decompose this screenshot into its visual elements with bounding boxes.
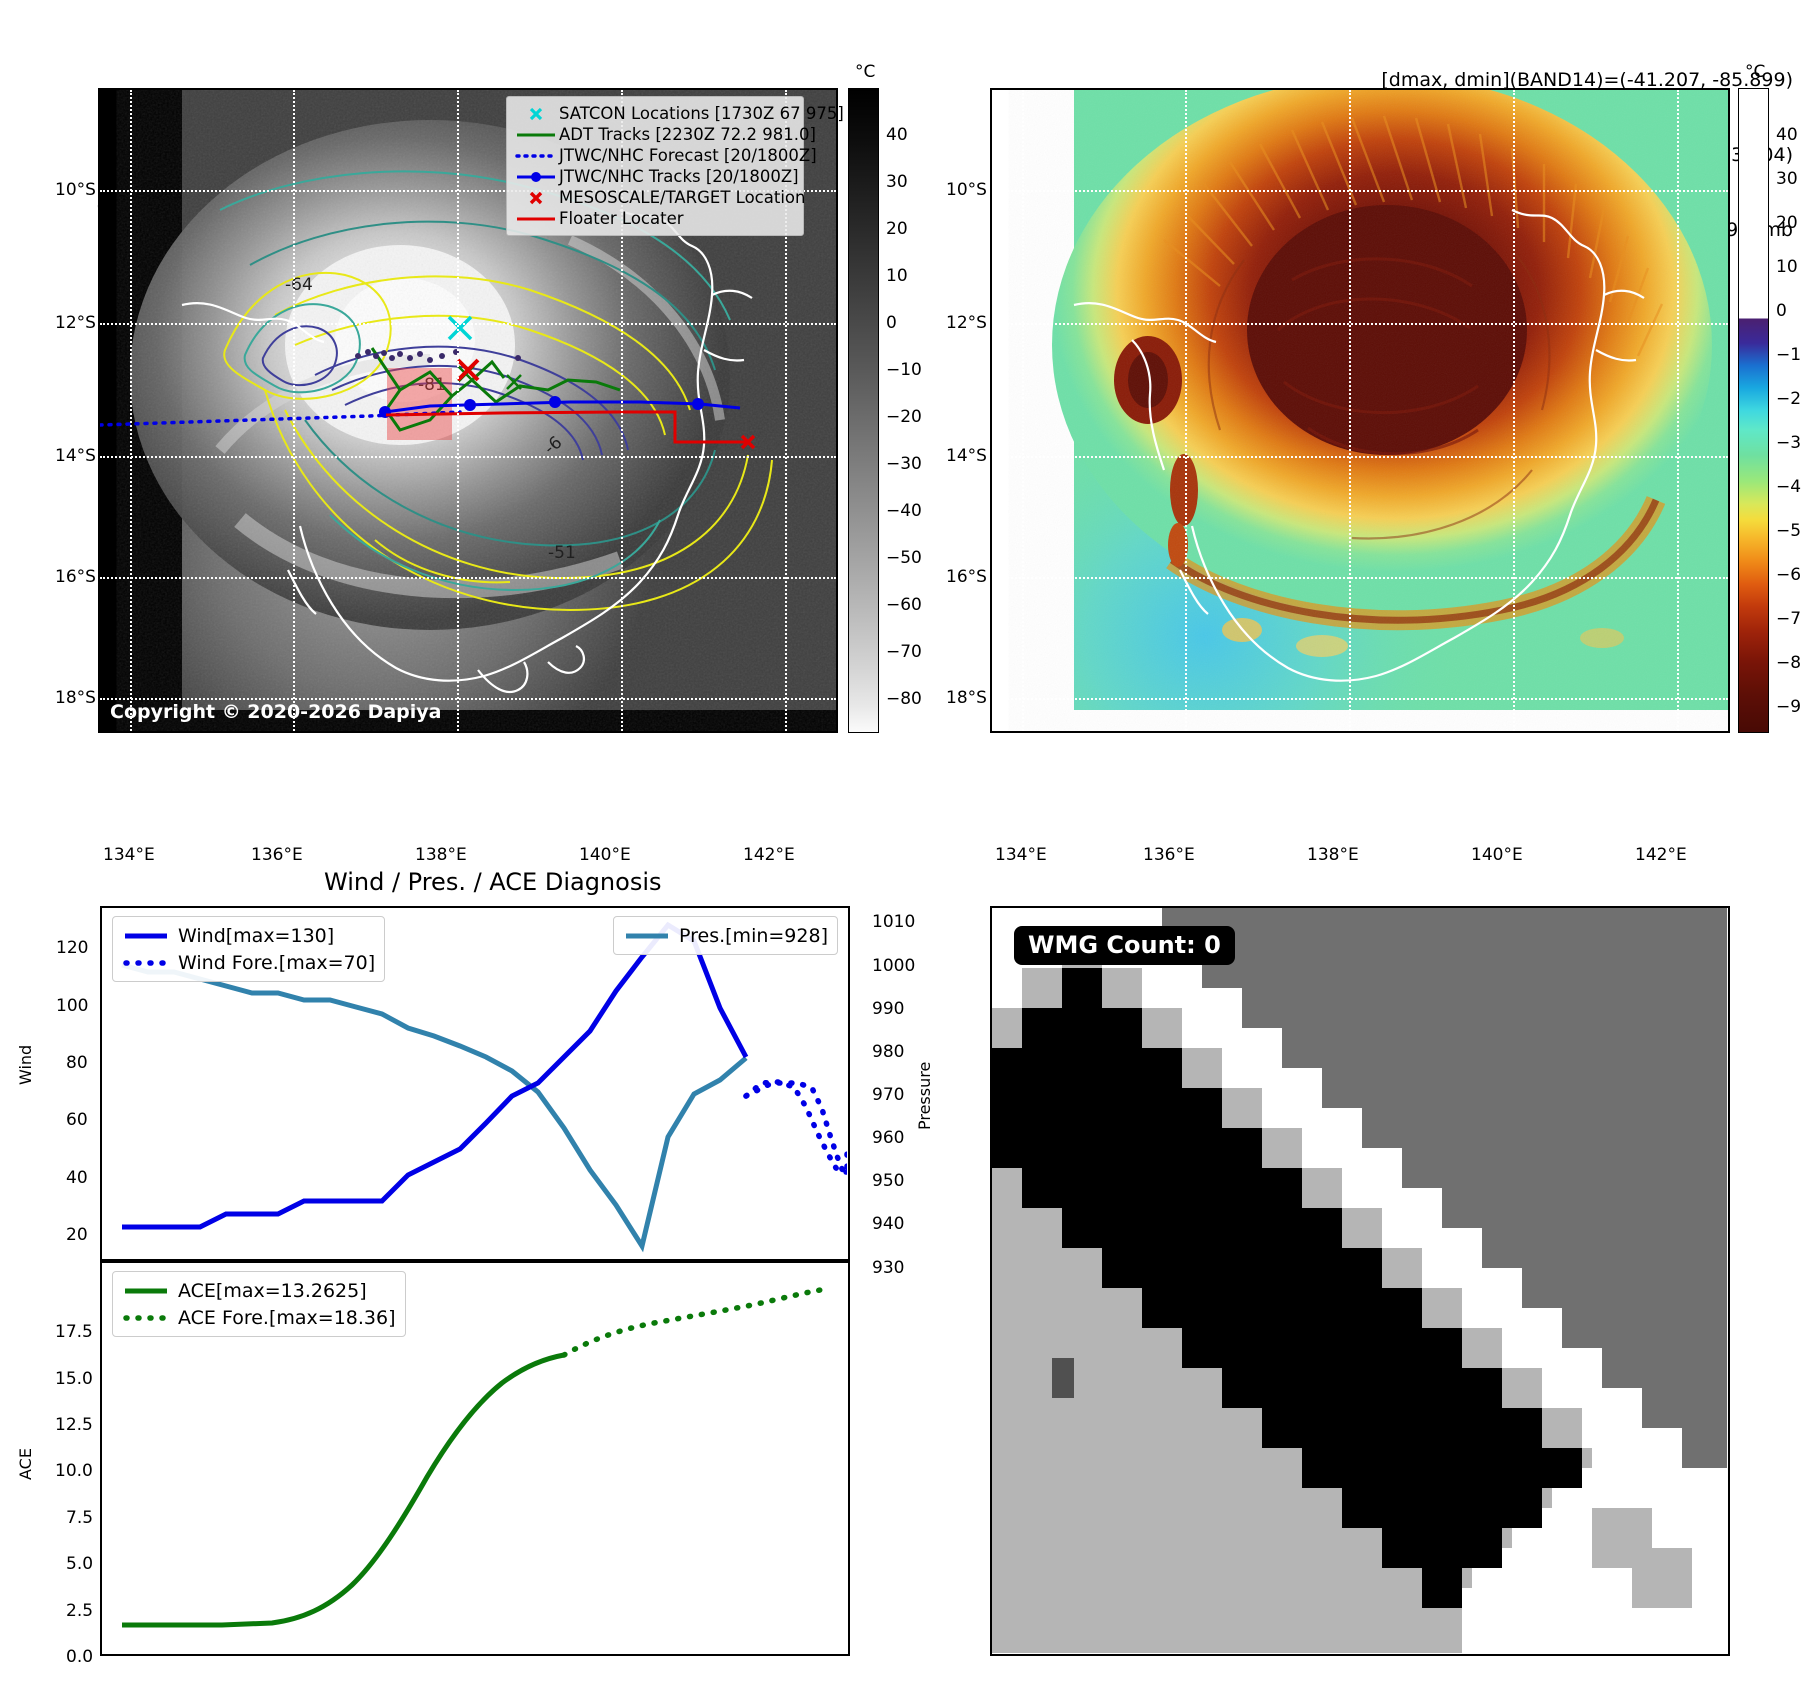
left-cb-tick: 0 — [886, 313, 897, 333]
left-cb-tick: 40 — [886, 125, 908, 145]
right-map-lat-tick: 14°S — [946, 446, 987, 466]
left-cb-tick: −80 — [886, 689, 922, 709]
right-map-lon-tick: 142°E — [1635, 845, 1687, 865]
legend-item-wind[interactable]: Wind[max=130] — [122, 922, 375, 949]
left-cb-tick: −20 — [886, 407, 922, 427]
ace-ytick: 10.0 — [55, 1461, 93, 1481]
wind-pressure-chart[interactable]: Wind[max=130] Wind Fore.[max=70] Pres.[m… — [100, 906, 850, 1261]
ace-ytick: 15.0 — [55, 1369, 93, 1389]
line-blue-icon — [122, 927, 178, 945]
right-satellite-map[interactable] — [990, 88, 1730, 733]
contour-label-51: -51 — [548, 543, 576, 563]
right-cb-tick: −40 — [1776, 477, 1801, 497]
pressure-ytick: 950 — [872, 1171, 904, 1191]
wmg-count-badge: WMG Count: 0 — [1014, 926, 1235, 965]
left-map-lat-tick: 18°S — [55, 688, 96, 708]
right-map-lat-tick: 10°S — [946, 180, 987, 200]
right-cb-tick: 0 — [1776, 301, 1787, 321]
ace-ytick: 5.0 — [66, 1554, 93, 1574]
ace-ytick: 17.5 — [55, 1322, 93, 1342]
ace-chart-legend: ACE[max=13.2625] ACE Fore.[max=18.36] — [112, 1271, 406, 1337]
line-steelblue-icon — [623, 927, 679, 945]
left-map-lat-tick: 12°S — [55, 313, 96, 333]
wind-forecast-series-tail — [746, 1082, 847, 1172]
ace-ytick: 0.0 — [66, 1647, 93, 1667]
right-map-lon-tick: 134°E — [995, 845, 1047, 865]
legend-label-ace-forecast: ACE Fore.[max=18.36] — [178, 1307, 396, 1329]
right-cb-tick: 20 — [1776, 213, 1798, 233]
legend-item-wind-forecast[interactable]: Wind Fore.[max=70] — [122, 949, 375, 976]
right-cb-tick: −60 — [1776, 565, 1801, 585]
right-map-lat-tick: 12°S — [946, 313, 987, 333]
dashboard-root: HIMAWARI-9 BAND14-DIAS TARGET AREA Time:… — [0, 0, 1801, 1690]
x-marker-red-icon — [513, 187, 559, 208]
pressure-ytick: 1010 — [872, 912, 915, 932]
left-cb-tick: −30 — [886, 454, 922, 474]
line-green-icon — [122, 1282, 178, 1300]
right-map-svg — [992, 90, 1728, 731]
wind-ytick: 20 — [66, 1225, 88, 1245]
left-cb-tick: 20 — [886, 219, 908, 239]
line-green-icon — [513, 124, 559, 145]
legend-label-ace: ACE[max=13.2625] — [178, 1280, 367, 1302]
legend-item-jtwc-tracks[interactable]: JTWC/NHC Tracks [20/1800Z] — [513, 166, 795, 187]
wind-ytick: 80 — [66, 1053, 88, 1073]
legend-item-ace-forecast[interactable]: ACE Fore.[max=18.36] — [122, 1304, 396, 1331]
wind-ytick: 40 — [66, 1168, 88, 1188]
wind-axis-label: Wind — [16, 1045, 35, 1085]
legend-item-adt[interactable]: ADT Tracks [2230Z 72.2 981.0] — [513, 124, 795, 145]
right-map-lon-tick: 138°E — [1307, 845, 1359, 865]
pressure-series — [122, 965, 746, 1246]
contour-label-64: -64 — [285, 275, 313, 295]
wmg-map-svg — [992, 908, 1727, 1653]
x-marker-cyan-icon — [513, 103, 559, 124]
right-map-lat-tick: 16°S — [946, 567, 987, 587]
copyright-text: Copyright © 2020-2026 Dapiya — [110, 701, 441, 723]
legend-item-floater[interactable]: Floater Locater — [513, 208, 795, 229]
legend-label-wind-forecast: Wind Fore.[max=70] — [178, 952, 375, 974]
legend-item-mesoscale[interactable]: MESOSCALE/TARGET Location — [513, 187, 795, 208]
legend-label-jtwc-forecast: JTWC/NHC Forecast [20/1800Z] — [559, 146, 817, 165]
left-cb-tick: 30 — [886, 172, 908, 192]
right-cb-tick: −10 — [1776, 345, 1801, 365]
right-cb-tick: 30 — [1776, 169, 1798, 189]
legend-label-mesoscale: MESOSCALE/TARGET Location — [559, 188, 805, 207]
line-red-icon — [513, 208, 559, 229]
pressure-ytick: 1000 — [872, 956, 915, 976]
ace-chart[interactable]: ACE[max=13.2625] ACE Fore.[max=18.36] — [100, 1261, 850, 1656]
right-cb-tick: −90 — [1776, 697, 1801, 717]
dotted-green-icon — [122, 1309, 178, 1327]
left-map-lon-tick: 134°E — [103, 845, 155, 865]
legend-label-wind: Wind[max=130] — [178, 925, 334, 947]
pressure-axis-label: Pressure — [915, 1062, 934, 1130]
wmg-panel-plot — [992, 908, 1728, 1654]
ace-ytick: 7.5 — [66, 1508, 93, 1528]
wind-ytick: 120 — [56, 938, 88, 958]
right-cb-tick: −20 — [1776, 389, 1801, 409]
right-map-image — [992, 90, 1728, 731]
wind-ytick: 100 — [56, 996, 88, 1016]
pressure-ytick: 960 — [872, 1128, 904, 1148]
pressure-ytick: 980 — [872, 1042, 904, 1062]
left-cb-tick: −60 — [886, 595, 922, 615]
legend-label-floater: Floater Locater — [559, 209, 684, 228]
wind-ytick: 60 — [66, 1110, 88, 1130]
right-colorbar-unit: °C — [1745, 62, 1765, 82]
right-cb-tick: 40 — [1776, 125, 1798, 145]
ace-ytick: 12.5 — [55, 1415, 93, 1435]
ace-ytick: 2.5 — [66, 1601, 93, 1621]
right-cb-tick: 10 — [1776, 257, 1798, 277]
left-cb-tick: −70 — [886, 642, 922, 662]
left-cb-tick: −50 — [886, 548, 922, 568]
legend-item-jtwc-forecast[interactable]: JTWC/NHC Forecast [20/1800Z] — [513, 145, 795, 166]
left-colorbar — [848, 88, 879, 733]
legend-item-pressure[interactable]: Pres.[min=928] — [623, 922, 828, 949]
right-map-lon-tick: 136°E — [1143, 845, 1195, 865]
left-map-lat-tick: 14°S — [55, 446, 96, 466]
right-colorbar — [1738, 88, 1769, 733]
right-map-lon-tick: 140°E — [1471, 845, 1523, 865]
left-map-lat-tick: 16°S — [55, 567, 96, 587]
right-cb-tick: −70 — [1776, 609, 1801, 629]
right-map-lat-tick: 18°S — [946, 688, 987, 708]
legend-label-satcon: SATCON Locations [1730Z 67 975] — [559, 104, 844, 123]
left-map-lon-tick: 138°E — [415, 845, 467, 865]
legend-item-satcon[interactable]: SATCON Locations [1730Z 67 975] — [513, 103, 795, 124]
left-cb-tick: −10 — [886, 360, 922, 380]
left-map-lat-tick: 10°S — [55, 180, 96, 200]
line-dot-blue-icon — [513, 166, 559, 187]
left-cb-tick: −40 — [886, 501, 922, 521]
wmg-panel[interactable]: WMG Count: 0 — [990, 906, 1730, 1656]
pressure-ytick: 970 — [872, 1085, 904, 1105]
legend-item-ace[interactable]: ACE[max=13.2625] — [122, 1277, 396, 1304]
legend-label-adt: ADT Tracks [2230Z 72.2 981.0] — [559, 125, 816, 144]
wind-chart-legend: Wind[max=130] Wind Fore.[max=70] — [112, 916, 385, 982]
ace-axis-label: ACE — [16, 1448, 35, 1480]
left-map-lon-tick: 140°E — [579, 845, 631, 865]
legend-label-pressure: Pres.[min=928] — [679, 925, 828, 947]
pressure-ytick: 990 — [872, 999, 904, 1019]
right-cb-tick: −80 — [1776, 653, 1801, 673]
pressure-ytick: 940 — [872, 1214, 904, 1234]
legend-label-jtwc-tracks: JTWC/NHC Tracks [20/1800Z] — [559, 167, 799, 186]
map-legend: SATCON Locations [1730Z 67 975] ADT Trac… — [506, 96, 804, 236]
left-cb-tick: 10 — [886, 266, 908, 286]
pressure-ytick: 930 — [872, 1258, 904, 1278]
dotted-blue-icon — [513, 145, 559, 166]
diagnosis-panel-title: Wind / Pres. / ACE Diagnosis — [324, 868, 662, 896]
right-cb-tick: −50 — [1776, 521, 1801, 541]
ace-forecast-series — [564, 1289, 826, 1355]
left-map-lon-tick: 136°E — [251, 845, 303, 865]
dotted-blue-icon — [122, 954, 178, 972]
pressure-chart-legend: Pres.[min=928] — [613, 916, 838, 955]
left-map-lon-tick: 142°E — [743, 845, 795, 865]
left-colorbar-unit: °C — [855, 62, 875, 82]
ace-series — [122, 1355, 564, 1625]
right-cb-tick: −30 — [1776, 433, 1801, 453]
